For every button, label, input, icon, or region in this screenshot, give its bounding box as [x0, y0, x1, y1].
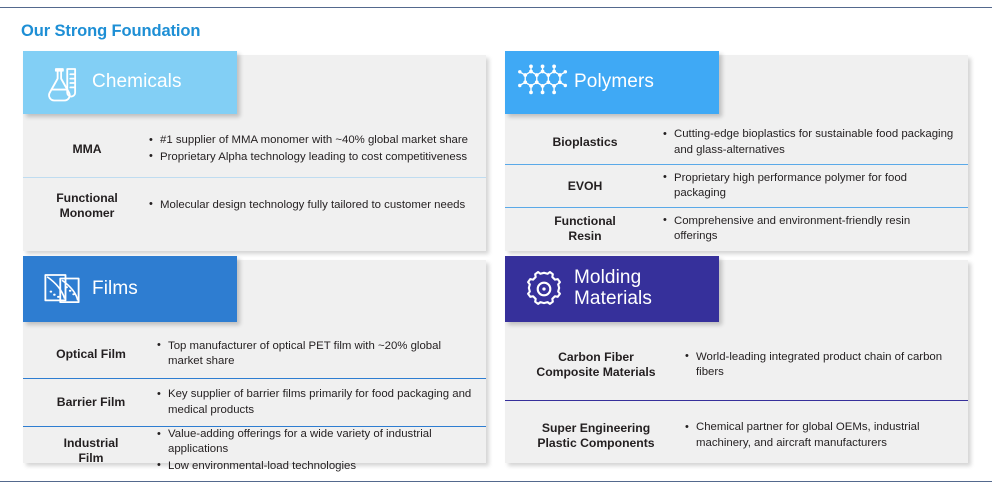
list-item: Proprietary high performance polymer for… — [663, 171, 954, 201]
list-item: Chemical partner for global OEMs, indust… — [685, 420, 954, 450]
flask-testtube-icon — [36, 62, 88, 104]
row-label: Functional Monomer — [35, 191, 139, 221]
segment-panel-chemicals: Chemicals MMA #1 supplier of MMA monomer… — [23, 55, 486, 251]
row-label: Barrier Film — [35, 395, 147, 410]
table-row: Functional Resin Comprehensive and envir… — [505, 207, 968, 250]
row-label: Functional Resin — [517, 214, 653, 244]
list-item: World-leading integrated product chain o… — [685, 350, 954, 380]
row-bullets: Proprietary high performance polymer for… — [653, 171, 954, 201]
gear-icon — [518, 268, 570, 310]
film-sheets-icon — [36, 268, 88, 310]
row-label: Optical Film — [35, 347, 147, 362]
table-row: Carbon Fiber Composite Materials World-l… — [505, 330, 968, 400]
table-row: Super Engineering Plastic Components Che… — [505, 400, 968, 470]
row-bullets: #1 supplier of MMA monomer with ~40% glo… — [139, 133, 472, 164]
row-label: Super Engineering Plastic Components — [517, 421, 675, 451]
row-bullets: Top manufacturer of optical PET film wit… — [147, 339, 472, 369]
row-bullets: Comprehensive and environment-friendly r… — [653, 214, 954, 244]
table-row: Barrier Film Key supplier of barrier fil… — [23, 378, 486, 426]
row-label: MMA — [35, 142, 139, 157]
row-label: EVOH — [517, 179, 653, 194]
list-item: #1 supplier of MMA monomer with ~40% glo… — [149, 133, 472, 148]
top-divider-rule — [0, 7, 992, 8]
row-label: Bioplastics — [517, 135, 653, 150]
table-row: Functional Monomer Molecular design tech… — [23, 177, 486, 233]
panel-rows: Carbon Fiber Composite Materials World-l… — [505, 330, 968, 470]
table-row: Bioplastics Cutting-edge bioplastics for… — [505, 121, 968, 164]
table-row: Industrial Film Value-adding offerings f… — [23, 426, 486, 474]
panel-header-chemicals: Chemicals — [23, 51, 237, 114]
panel-header-polymers: Polymers — [505, 51, 719, 114]
panel-header-films: Films — [23, 256, 237, 322]
table-row: MMA #1 supplier of MMA monomer with ~40%… — [23, 121, 486, 177]
page-title: Our Strong Foundation — [21, 22, 200, 41]
row-bullets: Chemical partner for global OEMs, indust… — [675, 420, 954, 450]
polymer-lattice-icon — [518, 64, 570, 102]
row-bullets: Molecular design technology fully tailor… — [139, 198, 472, 213]
segment-panel-molding-materials: Molding Materials Carbon Fiber Composite… — [505, 260, 968, 463]
panel-title-chemicals: Chemicals — [92, 72, 182, 93]
table-row: Optical Film Top manufacturer of optical… — [23, 330, 486, 378]
panel-rows: MMA #1 supplier of MMA monomer with ~40%… — [23, 121, 486, 233]
list-item: Molecular design technology fully tailor… — [149, 198, 472, 213]
row-bullets: Key supplier of barrier films primarily … — [147, 387, 472, 417]
bottom-divider-rule — [0, 481, 992, 482]
segment-panel-films: Films Optical Film Top manufacturer of o… — [23, 260, 486, 463]
panel-rows: Optical Film Top manufacturer of optical… — [23, 330, 486, 474]
panel-rows: Bioplastics Cutting-edge bioplastics for… — [505, 121, 968, 250]
row-bullets: Value-adding offerings for a wide variet… — [147, 427, 472, 473]
panel-title-polymers: Polymers — [574, 72, 654, 93]
row-bullets: Cutting-edge bioplastics for sustainable… — [653, 127, 954, 157]
list-item: Value-adding offerings for a wide variet… — [157, 427, 472, 457]
panel-title-molding-materials: Molding Materials — [574, 268, 652, 309]
business-segment-grid: Chemicals MMA #1 supplier of MMA monomer… — [0, 47, 992, 467]
segment-panel-polymers: Polymers Bioplastics Cutting-edge biopla… — [505, 55, 968, 251]
row-label: Carbon Fiber Composite Materials — [517, 350, 675, 380]
list-item: Top manufacturer of optical PET film wit… — [157, 339, 472, 369]
row-bullets: World-leading integrated product chain o… — [675, 350, 954, 380]
table-row: EVOH Proprietary high performance polyme… — [505, 164, 968, 207]
list-item: Cutting-edge bioplastics for sustainable… — [663, 127, 954, 157]
list-item: Comprehensive and environment-friendly r… — [663, 214, 954, 244]
panel-header-molding-materials: Molding Materials — [505, 256, 719, 322]
list-item: Low environmental-load technologies — [157, 459, 472, 474]
row-label: Industrial Film — [35, 436, 147, 466]
list-item: Proprietary Alpha technology leading to … — [149, 150, 472, 165]
list-item: Key supplier of barrier films primarily … — [157, 387, 472, 417]
panel-title-films: Films — [92, 279, 138, 300]
